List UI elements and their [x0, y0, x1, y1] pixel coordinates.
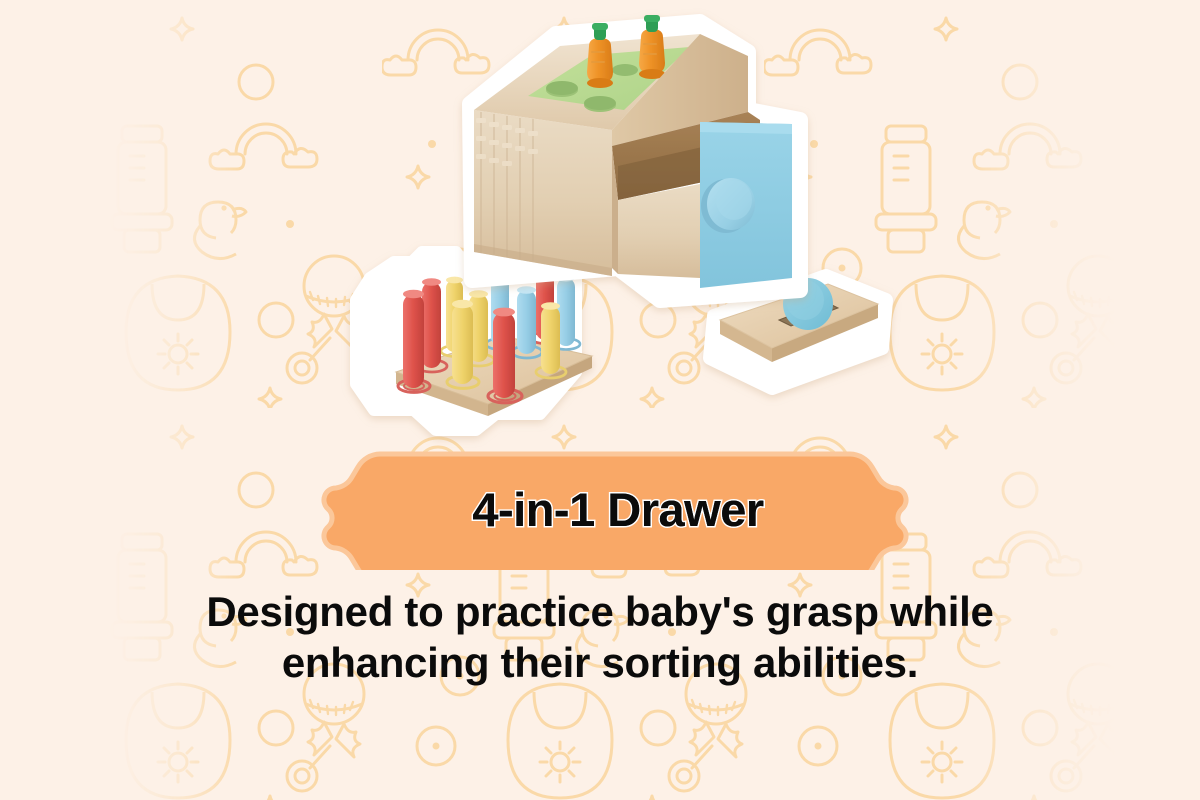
drawer-side-face [618, 184, 700, 278]
product-wooden-drawer-box [470, 15, 800, 300]
product-image-collage [0, 0, 1200, 450]
title-banner: 4-in-1 Drawer 4-in-1 Drawer [318, 448, 918, 570]
description-text: Designed to practice baby's grasp while … [0, 586, 1200, 688]
drawer-front-top-edge [700, 122, 792, 134]
banner-title: 4-in-1 Drawer [318, 448, 918, 570]
